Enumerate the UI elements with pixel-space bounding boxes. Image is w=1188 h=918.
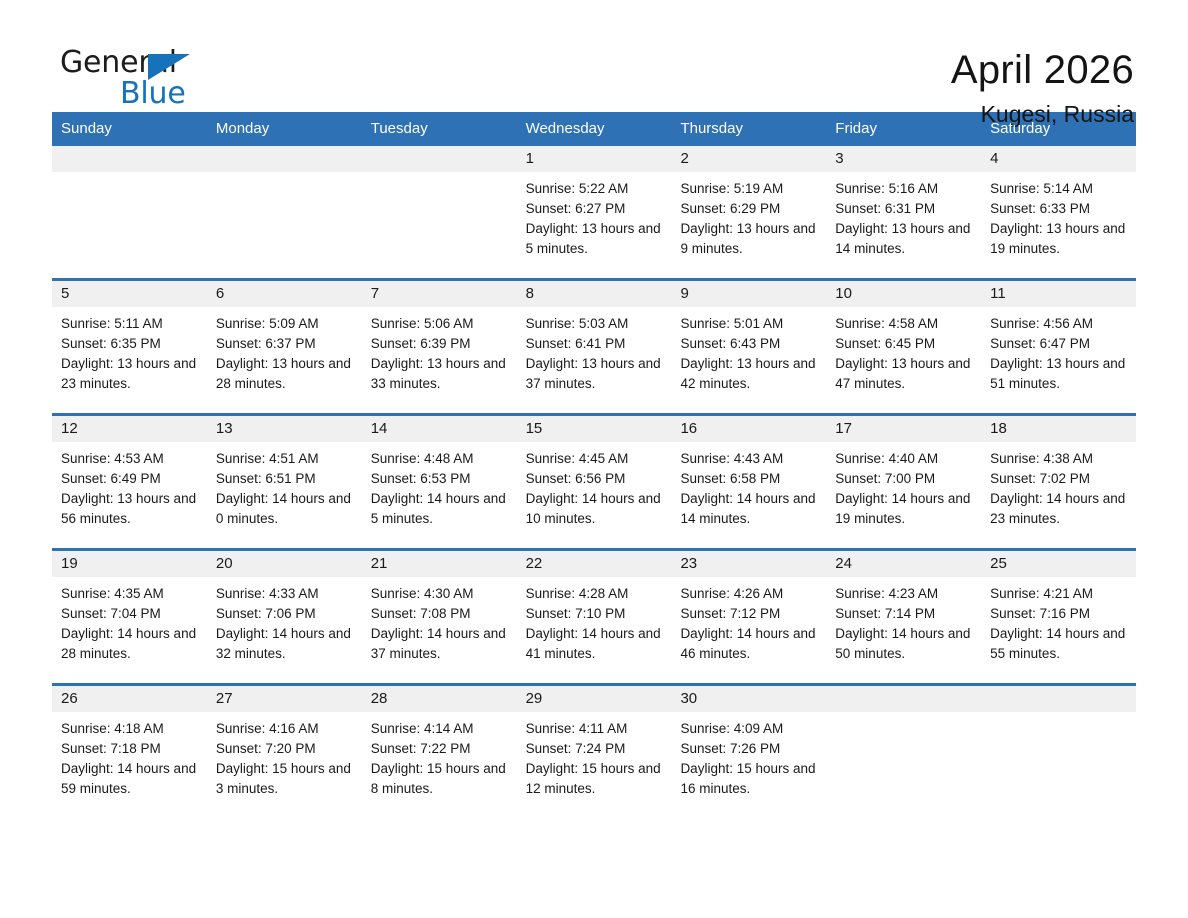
day-sun-info: Sunrise: 4:11 AMSunset: 7:24 PMDaylight:…	[517, 712, 672, 799]
sunrise-text: Sunrise: 4:28 AM	[526, 584, 668, 604]
calendar-day-cell[interactable]: 1Sunrise: 5:22 AMSunset: 6:27 PMDaylight…	[517, 146, 672, 278]
daylight-text: Daylight: 13 hours and 47 minutes.	[835, 354, 977, 394]
day-sun-info: Sunrise: 5:22 AMSunset: 6:27 PMDaylight:…	[517, 172, 672, 259]
page-title: April 2026	[951, 48, 1134, 92]
sunset-text: Sunset: 6:45 PM	[835, 334, 977, 354]
sunset-text: Sunset: 7:08 PM	[371, 604, 513, 624]
sunrise-text: Sunrise: 4:23 AM	[835, 584, 977, 604]
calendar-table: SundayMondayTuesdayWednesdayThursdayFrid…	[52, 112, 1136, 818]
day-sun-info: Sunrise: 4:56 AMSunset: 6:47 PMDaylight:…	[981, 307, 1136, 394]
calendar-day-cell[interactable]: 9Sunrise: 5:01 AMSunset: 6:43 PMDaylight…	[671, 281, 826, 413]
sunset-text: Sunset: 6:43 PM	[680, 334, 822, 354]
day-number: 12	[52, 416, 207, 442]
sunrise-text: Sunrise: 4:09 AM	[680, 719, 822, 739]
day-number: 28	[362, 686, 517, 712]
day-number: 9	[671, 281, 826, 307]
daylight-text: Daylight: 15 hours and 8 minutes.	[371, 759, 513, 799]
calendar-week-row: 19Sunrise: 4:35 AMSunset: 7:04 PMDayligh…	[52, 548, 1136, 683]
weekday-header-saturday: Saturday	[981, 112, 1136, 146]
day-sun-info: Sunrise: 4:09 AMSunset: 7:26 PMDaylight:…	[671, 712, 826, 799]
day-number: 26	[52, 686, 207, 712]
daylight-text: Daylight: 13 hours and 42 minutes.	[680, 354, 822, 394]
day-sun-info: Sunrise: 4:16 AMSunset: 7:20 PMDaylight:…	[207, 712, 362, 799]
sunset-text: Sunset: 7:04 PM	[61, 604, 203, 624]
daylight-text: Daylight: 15 hours and 16 minutes.	[680, 759, 822, 799]
sunrise-text: Sunrise: 5:03 AM	[526, 314, 668, 334]
sunset-text: Sunset: 6:49 PM	[61, 469, 203, 489]
calendar-day-cell[interactable]: 2Sunrise: 5:19 AMSunset: 6:29 PMDaylight…	[671, 146, 826, 278]
daylight-text: Daylight: 14 hours and 10 minutes.	[526, 489, 668, 529]
day-number	[362, 146, 517, 172]
calendar-day-cell[interactable]: 7Sunrise: 5:06 AMSunset: 6:39 PMDaylight…	[362, 281, 517, 413]
sunset-text: Sunset: 6:39 PM	[371, 334, 513, 354]
sunrise-text: Sunrise: 5:06 AM	[371, 314, 513, 334]
day-sun-info: Sunrise: 5:19 AMSunset: 6:29 PMDaylight:…	[671, 172, 826, 259]
daylight-text: Daylight: 14 hours and 37 minutes.	[371, 624, 513, 664]
sunrise-text: Sunrise: 4:33 AM	[216, 584, 358, 604]
daylight-text: Daylight: 14 hours and 14 minutes.	[680, 489, 822, 529]
calendar-week-row: 5Sunrise: 5:11 AMSunset: 6:35 PMDaylight…	[52, 278, 1136, 413]
calendar-day-cell[interactable]: 10Sunrise: 4:58 AMSunset: 6:45 PMDayligh…	[826, 281, 981, 413]
day-number: 25	[981, 551, 1136, 577]
day-number: 3	[826, 146, 981, 172]
day-number: 15	[517, 416, 672, 442]
calendar-day-cell[interactable]: 22Sunrise: 4:28 AMSunset: 7:10 PMDayligh…	[517, 551, 672, 683]
day-number	[207, 146, 362, 172]
sunset-text: Sunset: 7:26 PM	[680, 739, 822, 759]
day-sun-info: Sunrise: 4:35 AMSunset: 7:04 PMDaylight:…	[52, 577, 207, 664]
day-number: 29	[517, 686, 672, 712]
calendar-day-cell[interactable]: 28Sunrise: 4:14 AMSunset: 7:22 PMDayligh…	[362, 686, 517, 818]
daylight-text: Daylight: 14 hours and 41 minutes.	[526, 624, 668, 664]
day-sun-info: Sunrise: 5:03 AMSunset: 6:41 PMDaylight:…	[517, 307, 672, 394]
daylight-text: Daylight: 15 hours and 12 minutes.	[526, 759, 668, 799]
sunset-text: Sunset: 6:37 PM	[216, 334, 358, 354]
day-sun-info: Sunrise: 5:11 AMSunset: 6:35 PMDaylight:…	[52, 307, 207, 394]
weekday-header-row: SundayMondayTuesdayWednesdayThursdayFrid…	[52, 112, 1136, 146]
day-sun-info: Sunrise: 4:38 AMSunset: 7:02 PMDaylight:…	[981, 442, 1136, 529]
sunset-text: Sunset: 7:00 PM	[835, 469, 977, 489]
calendar-day-cell[interactable]: 30Sunrise: 4:09 AMSunset: 7:26 PMDayligh…	[671, 686, 826, 818]
daylight-text: Daylight: 14 hours and 59 minutes.	[61, 759, 203, 799]
daylight-text: Daylight: 13 hours and 51 minutes.	[990, 354, 1132, 394]
daylight-text: Daylight: 13 hours and 9 minutes.	[680, 219, 822, 259]
day-number: 23	[671, 551, 826, 577]
calendar-day-cell[interactable]: 13Sunrise: 4:51 AMSunset: 6:51 PMDayligh…	[207, 416, 362, 548]
calendar-page: General Blue April 2026 Kugesi, Russia S…	[0, 0, 1188, 918]
day-sun-info: Sunrise: 5:01 AMSunset: 6:43 PMDaylight:…	[671, 307, 826, 394]
calendar-day-cell[interactable]: 3Sunrise: 5:16 AMSunset: 6:31 PMDaylight…	[826, 146, 981, 278]
day-number: 6	[207, 281, 362, 307]
day-number	[826, 686, 981, 712]
day-number: 18	[981, 416, 1136, 442]
calendar-week-row: 12Sunrise: 4:53 AMSunset: 6:49 PMDayligh…	[52, 413, 1136, 548]
sunset-text: Sunset: 6:31 PM	[835, 199, 977, 219]
daylight-text: Daylight: 13 hours and 14 minutes.	[835, 219, 977, 259]
page-header: General Blue April 2026 Kugesi, Russia	[52, 0, 1136, 100]
sunset-text: Sunset: 6:41 PM	[526, 334, 668, 354]
daylight-text: Daylight: 13 hours and 5 minutes.	[526, 219, 668, 259]
calendar-day-cell[interactable]: 14Sunrise: 4:48 AMSunset: 6:53 PMDayligh…	[362, 416, 517, 548]
sunrise-text: Sunrise: 4:30 AM	[371, 584, 513, 604]
day-sun-info: Sunrise: 4:45 AMSunset: 6:56 PMDaylight:…	[517, 442, 672, 529]
day-number: 11	[981, 281, 1136, 307]
daylight-text: Daylight: 14 hours and 28 minutes.	[61, 624, 203, 664]
calendar-day-cell[interactable]: 4Sunrise: 5:14 AMSunset: 6:33 PMDaylight…	[981, 146, 1136, 278]
sunset-text: Sunset: 7:12 PM	[680, 604, 822, 624]
sunrise-text: Sunrise: 4:26 AM	[680, 584, 822, 604]
daylight-text: Daylight: 14 hours and 50 minutes.	[835, 624, 977, 664]
sunset-text: Sunset: 6:56 PM	[526, 469, 668, 489]
day-sun-info: Sunrise: 4:30 AMSunset: 7:08 PMDaylight:…	[362, 577, 517, 664]
calendar-day-cell[interactable]: 5Sunrise: 5:11 AMSunset: 6:35 PMDaylight…	[52, 281, 207, 413]
weekday-header-monday: Monday	[207, 112, 362, 146]
calendar-day-cell[interactable]: 21Sunrise: 4:30 AMSunset: 7:08 PMDayligh…	[362, 551, 517, 683]
sunrise-text: Sunrise: 4:45 AM	[526, 449, 668, 469]
daylight-text: Daylight: 14 hours and 46 minutes.	[680, 624, 822, 664]
calendar-day-cell[interactable]: 6Sunrise: 5:09 AMSunset: 6:37 PMDaylight…	[207, 281, 362, 413]
triangle-icon	[148, 54, 190, 80]
sunrise-text: Sunrise: 4:16 AM	[216, 719, 358, 739]
day-sun-info: Sunrise: 5:09 AMSunset: 6:37 PMDaylight:…	[207, 307, 362, 394]
day-sun-info: Sunrise: 4:43 AMSunset: 6:58 PMDaylight:…	[671, 442, 826, 529]
weekday-header-wednesday: Wednesday	[517, 112, 672, 146]
general-blue-logo[interactable]: General Blue	[52, 48, 210, 120]
calendar-day-cell[interactable]: 16Sunrise: 4:43 AMSunset: 6:58 PMDayligh…	[671, 416, 826, 548]
day-number: 7	[362, 281, 517, 307]
daylight-text: Daylight: 13 hours and 33 minutes.	[371, 354, 513, 394]
day-sun-info: Sunrise: 5:06 AMSunset: 6:39 PMDaylight:…	[362, 307, 517, 394]
sunset-text: Sunset: 7:06 PM	[216, 604, 358, 624]
sunset-text: Sunset: 7:10 PM	[526, 604, 668, 624]
day-number: 22	[517, 551, 672, 577]
sunset-text: Sunset: 6:35 PM	[61, 334, 203, 354]
daylight-text: Daylight: 14 hours and 32 minutes.	[216, 624, 358, 664]
day-number: 17	[826, 416, 981, 442]
weekday-header-friday: Friday	[826, 112, 981, 146]
day-number: 13	[207, 416, 362, 442]
sunset-text: Sunset: 7:24 PM	[526, 739, 668, 759]
daylight-text: Daylight: 13 hours and 19 minutes.	[990, 219, 1132, 259]
sunrise-text: Sunrise: 4:14 AM	[371, 719, 513, 739]
calendar-day-cell[interactable]: 27Sunrise: 4:16 AMSunset: 7:20 PMDayligh…	[207, 686, 362, 818]
sunset-text: Sunset: 6:53 PM	[371, 469, 513, 489]
day-sun-info: Sunrise: 4:51 AMSunset: 6:51 PMDaylight:…	[207, 442, 362, 529]
day-sun-info: Sunrise: 4:58 AMSunset: 6:45 PMDaylight:…	[826, 307, 981, 394]
calendar-day-cell[interactable]: 23Sunrise: 4:26 AMSunset: 7:12 PMDayligh…	[671, 551, 826, 683]
daylight-text: Daylight: 14 hours and 5 minutes.	[371, 489, 513, 529]
sunrise-text: Sunrise: 4:11 AM	[526, 719, 668, 739]
day-sun-info: Sunrise: 5:16 AMSunset: 6:31 PMDaylight:…	[826, 172, 981, 259]
day-number	[52, 146, 207, 172]
calendar-day-cell-empty	[981, 686, 1136, 818]
sunrise-text: Sunrise: 4:21 AM	[990, 584, 1132, 604]
daylight-text: Daylight: 14 hours and 19 minutes.	[835, 489, 977, 529]
day-sun-info: Sunrise: 5:14 AMSunset: 6:33 PMDaylight:…	[981, 172, 1136, 259]
calendar-day-cell[interactable]: 24Sunrise: 4:23 AMSunset: 7:14 PMDayligh…	[826, 551, 981, 683]
calendar-weeks: 1Sunrise: 5:22 AMSunset: 6:27 PMDaylight…	[52, 146, 1136, 818]
sunset-text: Sunset: 7:20 PM	[216, 739, 358, 759]
day-sun-info: Sunrise: 4:26 AMSunset: 7:12 PMDaylight:…	[671, 577, 826, 664]
calendar-day-cell[interactable]: 15Sunrise: 4:45 AMSunset: 6:56 PMDayligh…	[517, 416, 672, 548]
calendar-day-cell[interactable]: 20Sunrise: 4:33 AMSunset: 7:06 PMDayligh…	[207, 551, 362, 683]
daylight-text: Daylight: 13 hours and 56 minutes.	[61, 489, 203, 529]
calendar-day-cell-empty	[207, 146, 362, 278]
sunrise-text: Sunrise: 5:01 AM	[680, 314, 822, 334]
day-sun-info: Sunrise: 4:28 AMSunset: 7:10 PMDaylight:…	[517, 577, 672, 664]
day-number: 16	[671, 416, 826, 442]
sunrise-text: Sunrise: 5:14 AM	[990, 179, 1132, 199]
sunrise-text: Sunrise: 5:09 AM	[216, 314, 358, 334]
day-sun-info: Sunrise: 4:33 AMSunset: 7:06 PMDaylight:…	[207, 577, 362, 664]
day-sun-info: Sunrise: 4:40 AMSunset: 7:00 PMDaylight:…	[826, 442, 981, 529]
day-number	[981, 686, 1136, 712]
sunrise-text: Sunrise: 4:38 AM	[990, 449, 1132, 469]
sunrise-text: Sunrise: 4:53 AM	[61, 449, 203, 469]
sunrise-text: Sunrise: 4:58 AM	[835, 314, 977, 334]
day-number: 14	[362, 416, 517, 442]
sunset-text: Sunset: 7:16 PM	[990, 604, 1132, 624]
calendar-day-cell-empty	[52, 146, 207, 278]
day-sun-info: Sunrise: 4:18 AMSunset: 7:18 PMDaylight:…	[52, 712, 207, 799]
day-sun-info: Sunrise: 4:53 AMSunset: 6:49 PMDaylight:…	[52, 442, 207, 529]
day-number: 8	[517, 281, 672, 307]
daylight-text: Daylight: 13 hours and 28 minutes.	[216, 354, 358, 394]
calendar-day-cell[interactable]: 8Sunrise: 5:03 AMSunset: 6:41 PMDaylight…	[517, 281, 672, 413]
calendar-day-cell[interactable]: 12Sunrise: 4:53 AMSunset: 6:49 PMDayligh…	[52, 416, 207, 548]
day-number: 30	[671, 686, 826, 712]
day-sun-info: Sunrise: 4:23 AMSunset: 7:14 PMDaylight:…	[826, 577, 981, 664]
day-sun-info: Sunrise: 4:14 AMSunset: 7:22 PMDaylight:…	[362, 712, 517, 799]
sunset-text: Sunset: 6:33 PM	[990, 199, 1132, 219]
sunset-text: Sunset: 6:27 PM	[526, 199, 668, 219]
weekday-header-tuesday: Tuesday	[362, 112, 517, 146]
day-number: 1	[517, 146, 672, 172]
daylight-text: Daylight: 13 hours and 23 minutes.	[61, 354, 203, 394]
weekday-header-thursday: Thursday	[671, 112, 826, 146]
calendar-week-row: 1Sunrise: 5:22 AMSunset: 6:27 PMDaylight…	[52, 146, 1136, 278]
daylight-text: Daylight: 13 hours and 37 minutes.	[526, 354, 668, 394]
calendar-week-row: 26Sunrise: 4:18 AMSunset: 7:18 PMDayligh…	[52, 683, 1136, 818]
day-number: 19	[52, 551, 207, 577]
sunset-text: Sunset: 6:47 PM	[990, 334, 1132, 354]
sunrise-text: Sunrise: 4:18 AM	[61, 719, 203, 739]
sunrise-text: Sunrise: 4:35 AM	[61, 584, 203, 604]
sunrise-text: Sunrise: 4:40 AM	[835, 449, 977, 469]
sunrise-text: Sunrise: 5:19 AM	[680, 179, 822, 199]
sunset-text: Sunset: 6:29 PM	[680, 199, 822, 219]
calendar-day-cell[interactable]: 11Sunrise: 4:56 AMSunset: 6:47 PMDayligh…	[981, 281, 1136, 413]
sunset-text: Sunset: 7:22 PM	[371, 739, 513, 759]
sunset-text: Sunset: 6:51 PM	[216, 469, 358, 489]
calendar-day-cell-empty	[826, 686, 981, 818]
day-sun-info: Sunrise: 4:21 AMSunset: 7:16 PMDaylight:…	[981, 577, 1136, 664]
sunset-text: Sunset: 6:58 PM	[680, 469, 822, 489]
day-number: 21	[362, 551, 517, 577]
daylight-text: Daylight: 14 hours and 23 minutes.	[990, 489, 1132, 529]
sunrise-text: Sunrise: 5:16 AM	[835, 179, 977, 199]
day-number: 5	[52, 281, 207, 307]
daylight-text: Daylight: 14 hours and 0 minutes.	[216, 489, 358, 529]
daylight-text: Daylight: 15 hours and 3 minutes.	[216, 759, 358, 799]
sunrise-text: Sunrise: 5:11 AM	[61, 314, 203, 334]
day-number: 10	[826, 281, 981, 307]
calendar-day-cell[interactable]: 19Sunrise: 4:35 AMSunset: 7:04 PMDayligh…	[52, 551, 207, 683]
calendar-day-cell[interactable]: 26Sunrise: 4:18 AMSunset: 7:18 PMDayligh…	[52, 686, 207, 818]
calendar-day-cell[interactable]: 18Sunrise: 4:38 AMSunset: 7:02 PMDayligh…	[981, 416, 1136, 548]
calendar-day-cell[interactable]: 29Sunrise: 4:11 AMSunset: 7:24 PMDayligh…	[517, 686, 672, 818]
logo-text-blue: Blue	[120, 78, 210, 110]
sunset-text: Sunset: 7:18 PM	[61, 739, 203, 759]
sunrise-text: Sunrise: 4:56 AM	[990, 314, 1132, 334]
sunrise-text: Sunrise: 4:43 AM	[680, 449, 822, 469]
day-number: 2	[671, 146, 826, 172]
calendar-day-cell[interactable]: 25Sunrise: 4:21 AMSunset: 7:16 PMDayligh…	[981, 551, 1136, 683]
day-sun-info: Sunrise: 4:48 AMSunset: 6:53 PMDaylight:…	[362, 442, 517, 529]
sunrise-text: Sunrise: 4:51 AM	[216, 449, 358, 469]
sunrise-text: Sunrise: 4:48 AM	[371, 449, 513, 469]
calendar-day-cell-empty	[362, 146, 517, 278]
day-number: 24	[826, 551, 981, 577]
calendar-day-cell[interactable]: 17Sunrise: 4:40 AMSunset: 7:00 PMDayligh…	[826, 416, 981, 548]
day-number: 4	[981, 146, 1136, 172]
day-number: 20	[207, 551, 362, 577]
sunset-text: Sunset: 7:02 PM	[990, 469, 1132, 489]
day-number: 27	[207, 686, 362, 712]
sunset-text: Sunset: 7:14 PM	[835, 604, 977, 624]
daylight-text: Daylight: 14 hours and 55 minutes.	[990, 624, 1132, 664]
sunrise-text: Sunrise: 5:22 AM	[526, 179, 668, 199]
